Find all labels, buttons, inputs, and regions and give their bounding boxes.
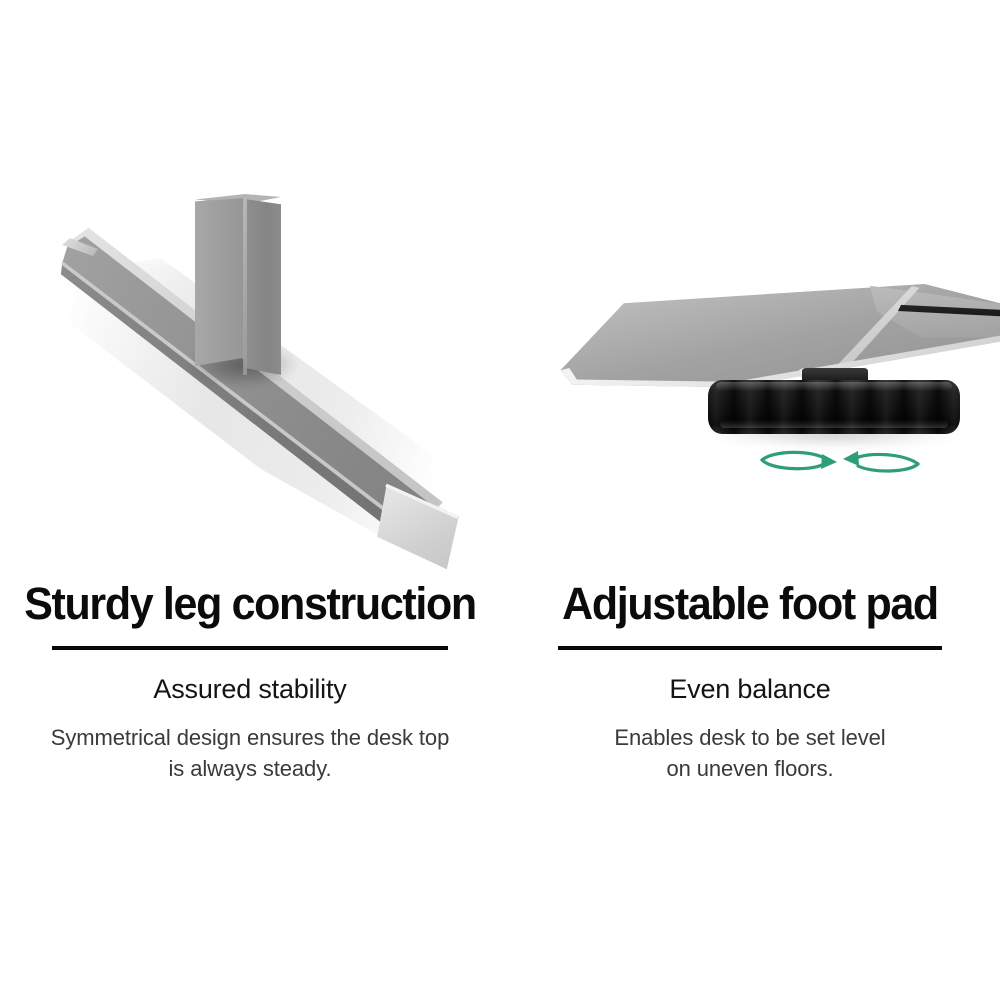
body-text-foot-pad: Enables desk to be set level on uneven f…	[515, 722, 985, 784]
foot-pad-top-highlight	[716, 382, 952, 391]
headline-sturdy-leg: Sturdy leg construction	[11, 578, 489, 630]
subhead-even-balance: Even balance	[500, 672, 1000, 706]
headline-divider-right	[558, 646, 942, 650]
feature-panel-sturdy-leg: Sturdy leg construction Assured stabilit…	[0, 0, 500, 1000]
feature-panel-adjustable-foot-pad: Adjustable foot pad Even balance Enables…	[500, 0, 1000, 1000]
body-line: on uneven floors.	[515, 753, 985, 784]
rotation-arrow-right-icon	[854, 454, 918, 471]
foot-pad-photo-stage	[500, 0, 1000, 570]
foot-pad-text-block: Adjustable foot pad Even balance Enables…	[500, 578, 1000, 784]
column-right-face	[245, 199, 281, 375]
rotation-arrow-left-icon	[762, 452, 826, 468]
rotation-arrows	[750, 440, 930, 486]
subhead-assured-stability: Assured stability	[0, 672, 500, 706]
headline-adjustable-foot-pad: Adjustable foot pad	[511, 578, 989, 630]
body-text-sturdy-leg: Symmetrical design ensures the desk top …	[15, 722, 485, 784]
column-corner-highlight	[243, 198, 247, 375]
rotation-arrow-right-head	[843, 451, 859, 466]
body-line: Symmetrical design ensures the desk top	[15, 722, 485, 753]
headline-divider-left	[52, 646, 448, 650]
infographic-canvas: Sturdy leg construction Assured stabilit…	[0, 0, 1000, 1000]
rotation-arrow-left-head	[821, 454, 837, 469]
desk-leg-base-photo	[40, 16, 500, 570]
leg-photo-stage	[0, 0, 500, 570]
sturdy-leg-text-block: Sturdy leg construction Assured stabilit…	[0, 578, 500, 784]
column-left-face	[195, 198, 245, 366]
adjustable-foot-pad-photo	[540, 16, 1000, 570]
foot-pad-bottom-highlight	[720, 420, 948, 428]
body-line: Enables desk to be set level	[515, 722, 985, 753]
body-line: is always steady.	[15, 753, 485, 784]
